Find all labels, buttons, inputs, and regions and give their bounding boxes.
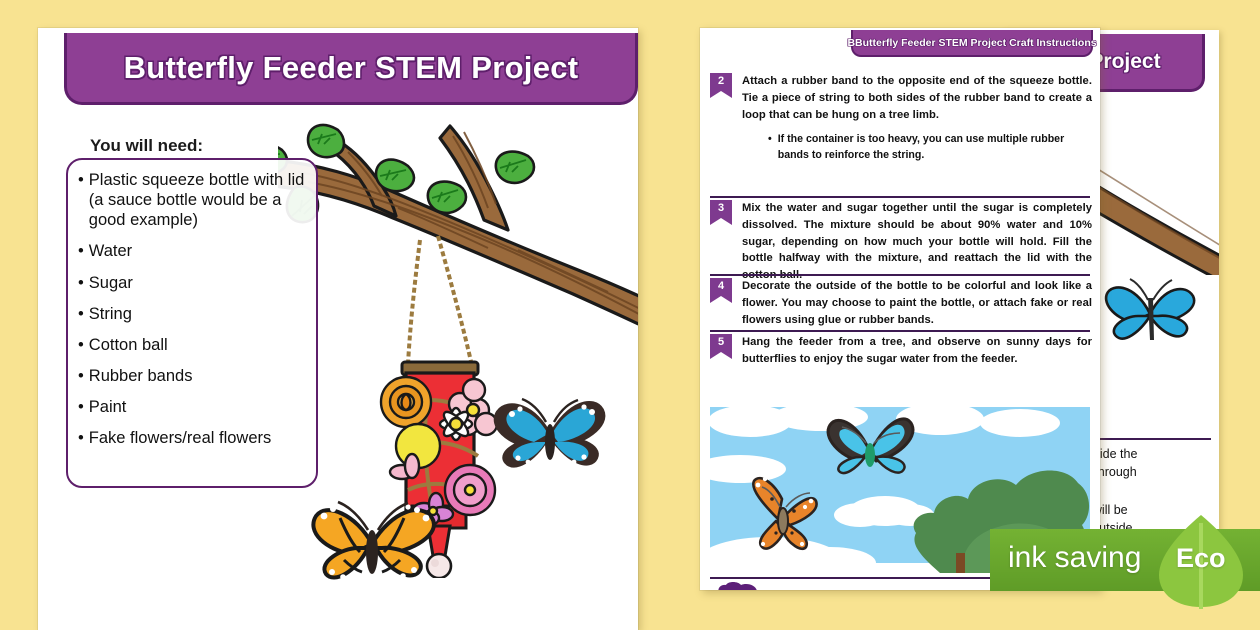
bullet-glyph: • xyxy=(78,366,84,386)
step-sub-bullet-text-2: If the container is too heavy, you can u… xyxy=(778,132,1092,163)
blue-butterfly-icon-page3 xyxy=(1098,270,1208,355)
preview-page-2[interactable]: B Butterfly Feeder STEM Project Craft In… xyxy=(700,28,1100,590)
material-label-1: Plastic squeeze bottle with lid (a sauce… xyxy=(89,170,308,230)
bullet-glyph: • xyxy=(78,304,84,324)
list-item: • Paint xyxy=(78,397,308,417)
list-item: • String xyxy=(78,304,308,324)
list-item: • Rubber bands xyxy=(78,366,308,386)
step-text-3: Mix the water and sugar together until t… xyxy=(742,200,1092,284)
material-label-6: Rubber bands xyxy=(89,366,308,386)
step-divider-1 xyxy=(710,196,1090,198)
list-item: • Fake flowers/real flowers xyxy=(78,428,308,448)
material-label-2: Water xyxy=(89,241,308,261)
page2-title-text: Butterfly Feeder STEM Project Craft Inst… xyxy=(855,37,1097,49)
page2-title-banner: B Butterfly Feeder STEM Project Craft In… xyxy=(851,30,1093,57)
step-sub-bullet-2: • If the container is too heavy, you can… xyxy=(768,132,1092,163)
material-label-3: Sugar xyxy=(89,273,308,293)
bullet-glyph: • xyxy=(78,428,84,448)
instruction-step-3: 3 Mix the water and sugar together until… xyxy=(710,200,1092,284)
step-number-badge-5: 5 xyxy=(710,334,732,359)
step-divider-3 xyxy=(710,330,1090,332)
bullet-glyph: • xyxy=(78,397,84,417)
bullet-glyph: • xyxy=(78,170,84,230)
material-label-5: Cotton ball xyxy=(89,335,308,355)
step-text-5: Hang the feeder from a tree, and observe… xyxy=(742,334,1092,368)
list-item: • Cotton ball xyxy=(78,335,308,355)
page3-title: Project xyxy=(1089,50,1160,74)
material-label-8: Fake flowers/real flowers xyxy=(89,428,308,448)
list-item: • Plastic squeeze bottle with lid (a sau… xyxy=(78,170,308,230)
step-number-badge-3: 3 xyxy=(710,200,732,225)
page1-title: Butterfly Feeder STEM Project xyxy=(124,50,579,86)
instruction-step-2: 2 Attach a rubber band to the opposite e… xyxy=(710,73,1092,163)
bullet-glyph: • xyxy=(78,335,84,355)
step-divider-2 xyxy=(710,274,1090,276)
material-label-7: Paint xyxy=(89,397,308,417)
bullet-glyph: • xyxy=(78,241,84,261)
bullet-glyph: • xyxy=(768,132,772,163)
step-text-2: Attach a rubber band to the opposite end… xyxy=(742,73,1092,123)
page2-title: B xyxy=(847,37,855,49)
bullet-glyph: • xyxy=(78,273,84,293)
twinkl-logo[interactable]: Twinkl xyxy=(714,581,762,590)
step-number-badge-2: 2 xyxy=(710,73,732,98)
eco-word: Eco xyxy=(1176,543,1226,574)
materials-list-box: • Plastic squeeze bottle with lid (a sau… xyxy=(66,158,318,488)
list-item: • Sugar xyxy=(78,273,308,293)
monarch-butterfly-icon-page1 xyxy=(300,488,450,603)
instruction-step-5: 5 Hang the feeder from a tree, and obser… xyxy=(710,334,1092,368)
step-text-4: Decorate the outside of the bottle to be… xyxy=(742,278,1092,328)
list-item: • Water xyxy=(78,241,308,261)
step-number-badge-4: 4 xyxy=(710,278,732,303)
blue-butterfly-icon-page1 xyxy=(486,390,616,490)
materials-heading: You will need: xyxy=(90,136,203,156)
material-label-4: String xyxy=(89,304,308,324)
eco-label: ink saving xyxy=(1008,541,1141,575)
ink-saving-eco-badge: ink saving Eco xyxy=(990,529,1260,591)
screenshot-stage: Project e cotton ball inside the the cot… xyxy=(0,0,1260,630)
preview-page-1[interactable]: Butterfly Feeder STEM Project You will n… xyxy=(38,28,638,630)
instruction-step-4: 4 Decorate the outside of the bottle to … xyxy=(710,278,1092,328)
page1-title-banner: Butterfly Feeder STEM Project xyxy=(64,33,638,105)
